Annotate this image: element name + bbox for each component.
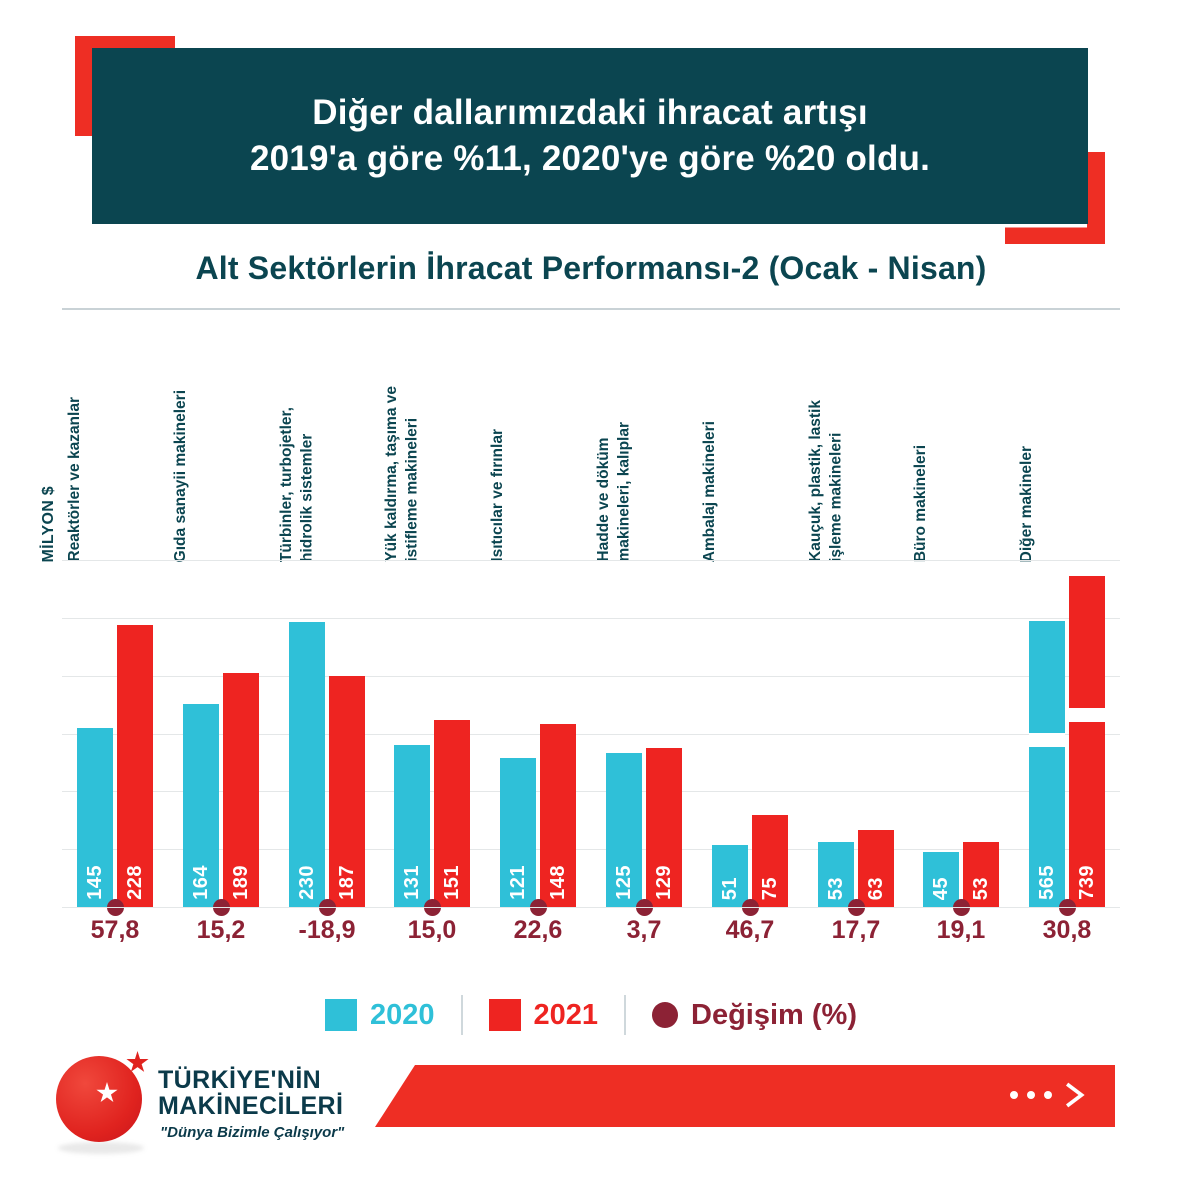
category-label: Diğer makineler xyxy=(1017,446,1037,562)
arrow-dot-3 xyxy=(1044,1091,1052,1099)
chart-legend: 2020 2021 Değişim (%) xyxy=(0,995,1182,1035)
legend-item-change[interactable]: Değişim (%) xyxy=(626,999,883,1032)
footer-next-arrow[interactable] xyxy=(1010,1082,1087,1108)
bar-value-label: 151 xyxy=(441,865,464,900)
bar-value-label: 53 xyxy=(970,877,993,900)
change-percent-label: 15,0 xyxy=(379,916,485,945)
arrow-dot-2 xyxy=(1027,1091,1035,1099)
bar-group: 4553 xyxy=(908,560,1014,908)
category-label: Türbinler, turbojetler, hidrolik sisteml… xyxy=(277,407,318,562)
bar-value-label: 228 xyxy=(124,865,147,900)
bar-group: 131151 xyxy=(379,560,485,908)
category-label: Reaktörler ve kazanlar xyxy=(65,397,85,562)
bar-2020: 125 xyxy=(606,753,642,908)
bar-group: 5175 xyxy=(697,560,803,908)
bar-2020: 565 xyxy=(1029,621,1065,908)
bar-2020: 131 xyxy=(394,745,430,908)
change-percent-label: 46,7 xyxy=(697,916,803,945)
bar-2020: 164 xyxy=(183,704,219,908)
bar-2020: 121 xyxy=(500,758,536,908)
bar-value-label: 125 xyxy=(613,865,636,900)
header-text: Diğer dallarımızdaki ihracat artışı 2019… xyxy=(250,90,930,182)
category-label: Büro makineleri xyxy=(911,445,931,562)
bar-value-label: 75 xyxy=(759,877,782,900)
bar-2021: 189 xyxy=(223,673,259,908)
bar-value-label: 51 xyxy=(719,877,742,900)
bar-2021: 151 xyxy=(434,720,470,908)
bar-value-label: 187 xyxy=(336,865,359,900)
bar-group: 164189 xyxy=(168,560,274,908)
axis-baseline xyxy=(62,907,1120,908)
change-percent-label: 15,2 xyxy=(168,916,274,945)
legend-dot-change xyxy=(652,1002,678,1028)
category-label: Hadde ve döküm makineleri, kalıplar xyxy=(594,422,635,562)
change-percent-label: -18,9 xyxy=(274,916,380,945)
bar-group: 565739 xyxy=(1014,560,1120,908)
change-percent-label: 19,1 xyxy=(908,916,1014,945)
bar-value-label: 164 xyxy=(190,865,213,900)
bar-value-label: 129 xyxy=(653,865,676,900)
footer-bar xyxy=(375,1065,1115,1127)
legend-label-change: Değişim (%) xyxy=(691,999,857,1032)
bar-2021: 53 xyxy=(963,842,999,908)
bar-2020: 53 xyxy=(818,842,854,908)
change-percent-label: 30,8 xyxy=(1014,916,1120,945)
category-label: Gıda sanayii makineleri xyxy=(171,390,191,562)
bar-group: 125129 xyxy=(591,560,697,908)
legend-swatch-2020 xyxy=(325,999,357,1031)
bar-2021: 75 xyxy=(752,815,788,908)
chevron-right-icon xyxy=(1061,1082,1087,1108)
header-banner: Diğer dallarımızdaki ihracat artışı 2019… xyxy=(0,0,1182,240)
category-label: Isıtıcılar ve fırınlar xyxy=(488,429,508,562)
bar-2021: 148 xyxy=(540,724,576,908)
legend-item-2020[interactable]: 2020 xyxy=(299,999,461,1032)
bar-value-label: 45 xyxy=(930,877,953,900)
bar-2021: 739 xyxy=(1069,576,1105,908)
bar-value-label: 121 xyxy=(507,865,530,900)
category-labels: Reaktörler ve kazanlarGıda sanayii makin… xyxy=(62,314,1120,562)
bar-group: 121148 xyxy=(485,560,591,908)
change-percent-label: 3,7 xyxy=(591,916,697,945)
bar-value-label: 131 xyxy=(401,865,424,900)
bar-value-label: 145 xyxy=(84,865,107,900)
change-percent-label: 22,6 xyxy=(485,916,591,945)
bar-value-label: 189 xyxy=(230,865,253,900)
logo-line-1: TÜRKİYE'NİN xyxy=(158,1068,321,1094)
change-percent-label: 17,7 xyxy=(803,916,909,945)
header-box: Diğer dallarımızdaki ihracat artışı 2019… xyxy=(92,48,1088,224)
bar-value-label: 63 xyxy=(865,877,888,900)
bar-2020: 51 xyxy=(712,845,748,908)
chart-top-divider xyxy=(62,308,1120,310)
chart-title: Alt Sektörlerin İhracat Performansı-2 (O… xyxy=(0,250,1182,287)
header-line-1: Diğer dallarımızdaki ihracat artışı xyxy=(250,90,930,136)
logo-sphere-icon xyxy=(56,1056,142,1142)
logo-shadow xyxy=(58,1142,144,1154)
plot-area: 57,814522815,2164189-18,923018715,013115… xyxy=(62,560,1120,908)
bar-value-label: 148 xyxy=(547,865,570,900)
axis-break-gap xyxy=(1029,733,1065,747)
bar-value-label: 739 xyxy=(1076,865,1099,900)
header-line-2: 2019'a göre %11, 2020'ye göre %20 oldu. xyxy=(250,136,930,182)
legend-swatch-2021 xyxy=(489,999,521,1031)
legend-label-2021: 2021 xyxy=(534,999,599,1032)
bar-2021: 129 xyxy=(646,748,682,908)
bar-2020: 230 xyxy=(289,622,325,908)
bar-2021: 228 xyxy=(117,625,153,908)
logo-line-2: MAKİNECİLERİ xyxy=(158,1094,343,1120)
arrow-dot-1 xyxy=(1010,1091,1018,1099)
category-label: Kauçuk, plastik, lastik işleme makineler… xyxy=(806,400,847,562)
category-label: Yük kaldırma, taşıma ve istifleme makine… xyxy=(382,386,423,562)
change-percent-label: 57,8 xyxy=(62,916,168,945)
bar-2021: 187 xyxy=(329,676,365,908)
legend-label-2020: 2020 xyxy=(370,999,435,1032)
bar-2020: 145 xyxy=(77,728,113,908)
logo-tagline: "Dünya Bizimle Çalışıyor" xyxy=(160,1124,344,1141)
axis-break-gap xyxy=(1069,708,1105,722)
bar-2020: 45 xyxy=(923,852,959,908)
bar-value-label: 230 xyxy=(296,865,319,900)
bar-value-label: 565 xyxy=(1036,865,1059,900)
category-label: Ambalaj makineleri xyxy=(700,421,720,562)
bar-group: 5363 xyxy=(803,560,909,908)
legend-item-2021[interactable]: 2021 xyxy=(463,999,625,1032)
brand-logo: TÜRKİYE'NİN MAKİNECİLERİ "Dünya Bizimle … xyxy=(48,1046,368,1156)
bar-group: 145228 xyxy=(62,560,168,908)
footer: TÜRKİYE'NİN MAKİNECİLERİ "Dünya Bizimle … xyxy=(0,1040,1182,1182)
y-axis-label: MİLYON $ xyxy=(40,486,58,563)
bar-group: 230187 xyxy=(274,560,380,908)
bar-value-label: 53 xyxy=(825,877,848,900)
bar-2021: 63 xyxy=(858,830,894,908)
chart-container: MİLYON $ Reaktörler ve kazanlarGıda sana… xyxy=(62,308,1120,908)
